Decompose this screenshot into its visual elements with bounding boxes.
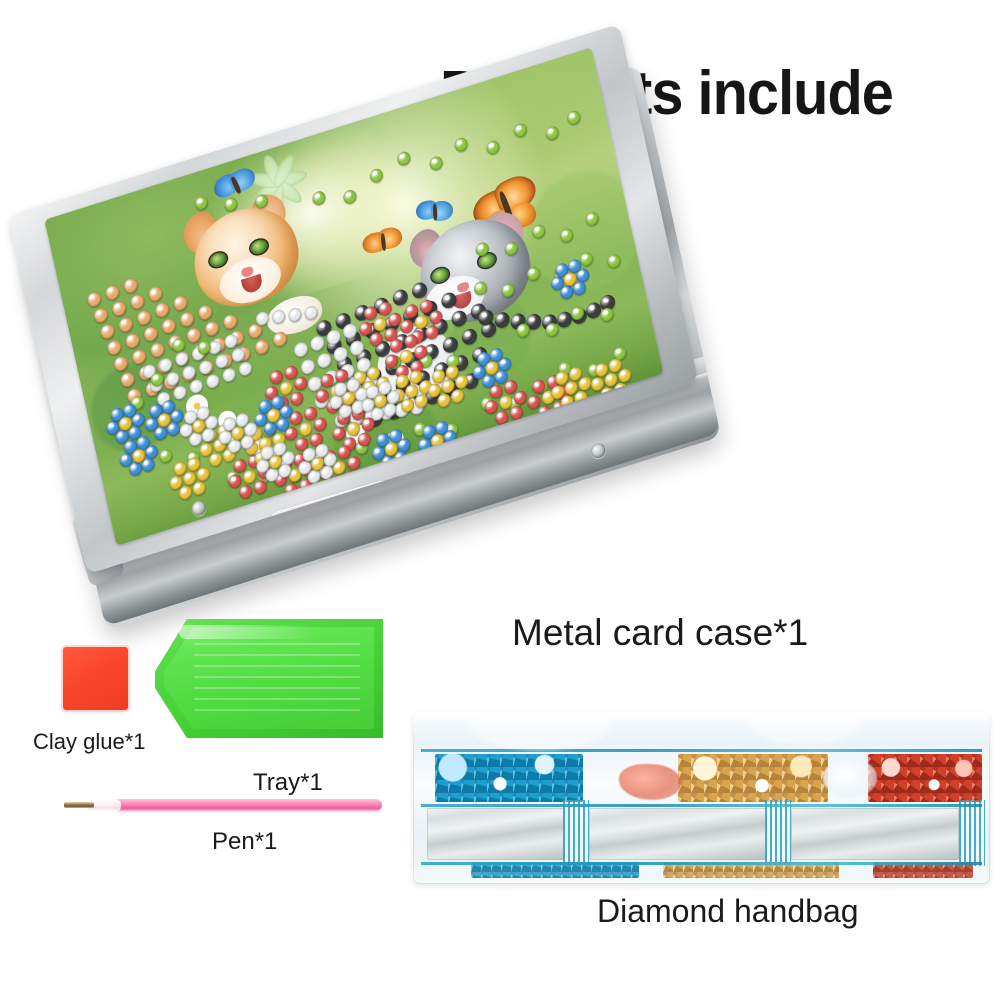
- clay-glue-label: Clay glue*1: [33, 729, 146, 755]
- foil-strip: [427, 808, 565, 860]
- foil-strip: [791, 808, 959, 860]
- white-stone-hint: [823, 758, 877, 798]
- red-rhinestone-overflow: [873, 862, 973, 878]
- blue-rhinestone-compartment: [435, 754, 583, 802]
- tray-highlight: [179, 625, 316, 639]
- metal-card-case-label: Metal card case*1: [512, 612, 808, 654]
- blue-rhinestone-overflow: [471, 862, 639, 878]
- pouch-seal-comb: [765, 800, 791, 866]
- plastic-pouch: [413, 712, 990, 884]
- metal-card-case: [38, 120, 778, 590]
- pen-tip: [64, 802, 94, 808]
- pouch-seal-line: [421, 862, 982, 865]
- card-case-3d: [2, 22, 713, 618]
- tray: [155, 619, 383, 738]
- clay-glue: [63, 647, 128, 710]
- product-contents-infographic: Products include: [0, 0, 1001, 1001]
- pink-stone-hint: [619, 764, 681, 800]
- diamond-handbag-label: Diamond handbag: [597, 893, 859, 930]
- pouch-seal-comb: [563, 800, 589, 866]
- gold-rhinestone-compartment: [678, 754, 828, 802]
- red-rhinestone-compartment: [868, 754, 982, 802]
- pen-barrel: [114, 799, 382, 811]
- foil-strip: [589, 808, 767, 860]
- pen-label: Pen*1: [212, 828, 277, 856]
- tray-inner-basin: [164, 627, 374, 729]
- tray-grooves: [194, 643, 360, 711]
- tray-label: Tray*1: [253, 769, 323, 797]
- pouch-seal-comb: [959, 800, 985, 866]
- rhinestone: [438, 442, 454, 459]
- pen: [62, 796, 382, 814]
- rhinestone: [426, 446, 442, 463]
- diamond-handbag: [413, 712, 990, 884]
- pouch-seal-line: [421, 749, 982, 752]
- pouch-seal-line: [421, 804, 982, 807]
- gold-rhinestone-overflow: [663, 862, 839, 878]
- pouch-top-flap: [413, 712, 990, 746]
